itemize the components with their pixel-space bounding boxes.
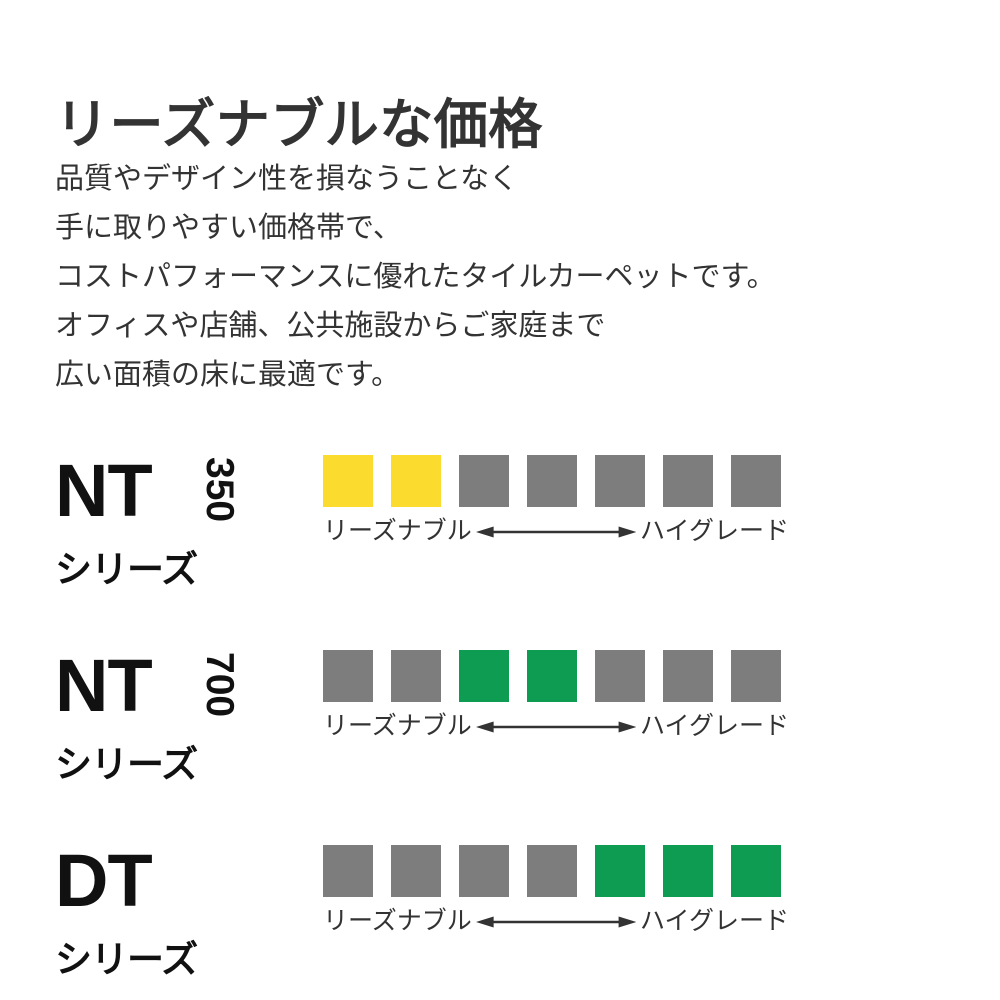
scale-legend: リーズナブル ハイグレード (323, 714, 789, 739)
swatch (391, 455, 441, 507)
swatch (459, 455, 509, 507)
swatch (731, 650, 781, 702)
swatch (595, 845, 645, 897)
legend-label-high: ハイグレード (640, 714, 789, 739)
swatch (323, 845, 373, 897)
series-code-letters: NT (55, 455, 152, 528)
swatch (323, 455, 373, 507)
swatch (595, 650, 645, 702)
swatch (527, 845, 577, 897)
legend-label-low: リーズナブル (323, 714, 472, 739)
swatch (459, 650, 509, 702)
series-code: NT 700 (55, 650, 152, 726)
description-line: オフィスや店舗、公共施設からご家庭まで (55, 302, 776, 351)
swatch (731, 845, 781, 897)
description-paragraph: 品質やデザイン性を損なうことなく 手に取りやすい価格帯で、 コストパフォーマンス… (55, 155, 776, 400)
swatch (663, 845, 713, 897)
price-scale: リーズナブル ハイグレード (323, 455, 793, 544)
legend-label-low: リーズナブル (323, 519, 472, 544)
double-arrow-icon (476, 717, 636, 737)
double-arrow-icon (476, 912, 636, 932)
swatch (595, 455, 645, 507)
swatch (527, 650, 577, 702)
series-label-group: DT シリーズ (55, 845, 295, 975)
legend-label-low: リーズナブル (323, 909, 472, 934)
swatch (527, 455, 577, 507)
swatch (391, 650, 441, 702)
swatch (663, 650, 713, 702)
series-suffix-label: シリーズ (55, 539, 197, 593)
description-line: 手に取りやすい価格帯で、 (55, 204, 776, 253)
scale-legend: リーズナブル ハイグレード (323, 519, 789, 544)
series-code-numeral: 350 (200, 457, 239, 522)
series-label-group: NT 350 シリーズ (55, 455, 295, 585)
price-scale: リーズナブル ハイグレード (323, 650, 793, 739)
description-line: 品質やデザイン性を損なうことなく (55, 155, 776, 204)
series-row: NT 700 シリーズ リーズナブル (0, 650, 1000, 780)
series-code-letters: DT (55, 845, 152, 918)
series-row: DT シリーズ リーズナブル (0, 845, 1000, 975)
price-scale: リーズナブル ハイグレード (323, 845, 793, 934)
page-root: リーズナブルな価格 品質やデザイン性を損なうことなく 手に取りやすい価格帯で、 … (0, 0, 1000, 1000)
double-arrow-icon (476, 522, 636, 542)
description-line: コストパフォーマンスに優れたタイルカーペットです。 (55, 253, 776, 302)
swatch (323, 650, 373, 702)
swatch (459, 845, 509, 897)
series-code: NT 350 (55, 455, 152, 531)
legend-label-high: ハイグレード (640, 519, 789, 544)
series-code: DT (55, 845, 152, 921)
series-label-group: NT 700 シリーズ (55, 650, 295, 780)
series-code-letters: NT (55, 650, 152, 723)
series-suffix-label: シリーズ (55, 929, 197, 983)
swatch (731, 455, 781, 507)
swatch (663, 455, 713, 507)
legend-label-high: ハイグレード (640, 909, 789, 934)
swatch (391, 845, 441, 897)
scale-legend: リーズナブル ハイグレード (323, 909, 789, 934)
swatch-strip (323, 845, 793, 897)
page-title: リーズナブルな価格 (55, 94, 543, 156)
series-row: NT 350 シリーズ リーズナブル (0, 455, 1000, 585)
series-suffix-label: シリーズ (55, 734, 197, 788)
series-code-numeral: 700 (200, 652, 239, 717)
swatch-strip (323, 650, 793, 702)
swatch-strip (323, 455, 793, 507)
description-line: 広い面積の床に最適です。 (55, 351, 776, 400)
